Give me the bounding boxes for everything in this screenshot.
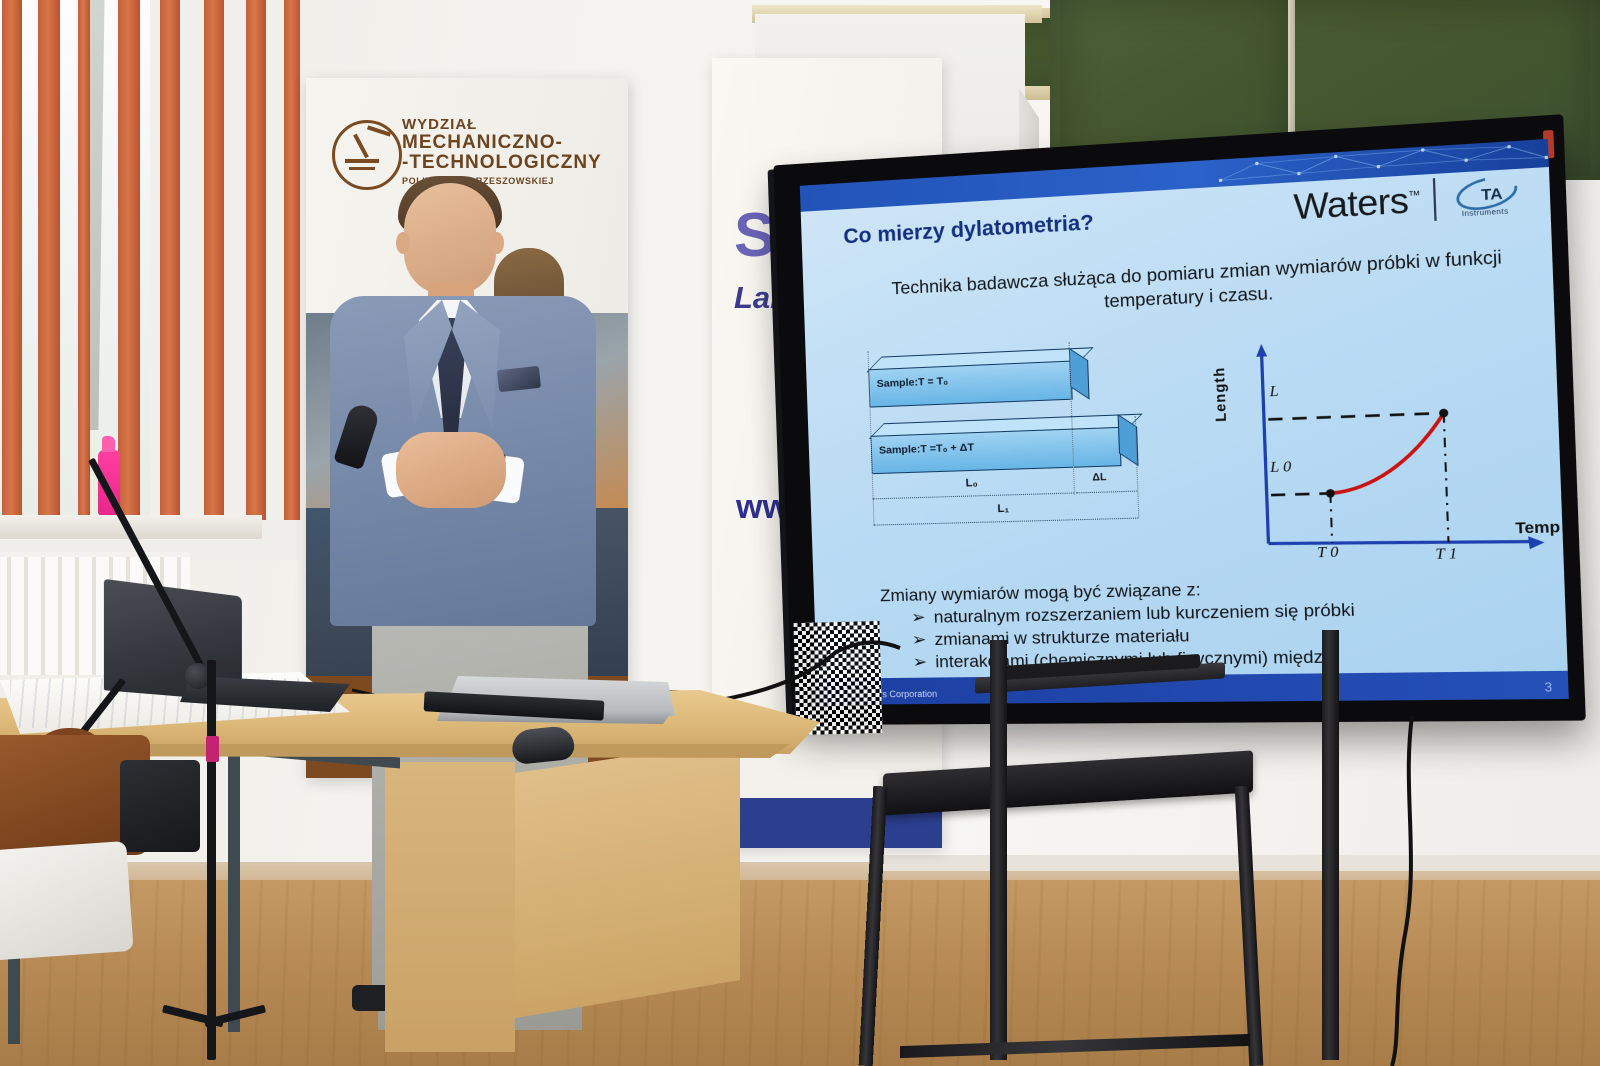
mic-pole-marker xyxy=(206,736,219,762)
logo-divider xyxy=(1433,178,1437,221)
presenter-hands xyxy=(396,432,506,508)
dim-L1-line xyxy=(874,518,1139,526)
presenter-ear-left xyxy=(396,232,410,254)
bullet-text-2: zmianami w strukturze materiału xyxy=(934,625,1190,651)
floor-grain xyxy=(0,880,1600,1066)
wall-display[interactable]: Co mierzy dylatometria? Waters™ TA Instr… xyxy=(773,114,1585,725)
presentation-room-photo: WYDZIAŁ MECHANICZNO- -TECHNOLOGICZNY POL… xyxy=(0,0,1600,1066)
brand-logo-group: Waters™ TA Instruments xyxy=(1293,173,1521,229)
dim-dL-label: ΔL xyxy=(1092,472,1106,484)
banner-line-3: -TECHNOLOGICZNY xyxy=(402,153,612,173)
waters-wordmark: Waters™ xyxy=(1293,180,1421,229)
length-vs-temp-chart: Length xyxy=(1211,325,1554,572)
slide-canvas[interactable]: Co mierzy dylatometria? Waters™ TA Instr… xyxy=(800,139,1569,705)
cart-column-left xyxy=(990,640,1007,1060)
chart-x-axis-label: Temp xyxy=(1515,518,1560,537)
chevron-right-icon: ➢ xyxy=(911,607,926,630)
dark-bag xyxy=(120,760,200,852)
chevron-right-icon: ➢ xyxy=(912,651,927,674)
chart-xtick-T1: T 1 xyxy=(1435,546,1458,565)
qr-code xyxy=(794,621,883,735)
banner-line-2: MECHANICZNO- xyxy=(402,133,612,153)
white-bag xyxy=(0,841,134,961)
chart-y-axis-label: Length xyxy=(1210,366,1229,422)
waters-text: Waters xyxy=(1293,180,1409,227)
svg-text:TA: TA xyxy=(1481,185,1503,204)
desk-leg-mid xyxy=(228,752,240,1032)
presenter-pocket-square xyxy=(497,366,541,392)
slide-body-text: Technika badawcza służąca do pomiaru zmi… xyxy=(869,244,1528,325)
dim-dL-line xyxy=(1076,491,1137,494)
banner-line-1: WYDZIAŁ xyxy=(402,116,612,133)
dim-L0-label: L₀ xyxy=(965,477,977,490)
trademark-icon: ™ xyxy=(1408,189,1420,202)
vertical-blinds-right[interactable] xyxy=(150,0,300,520)
ta-instruments-sub: Instruments xyxy=(1462,208,1509,218)
chart-ytick-L: L xyxy=(1269,383,1279,401)
chart-ytick-L0: L 0 xyxy=(1270,459,1292,478)
mic-pole xyxy=(207,660,216,1060)
chart-xtick-T0: T 0 xyxy=(1317,544,1339,562)
ta-instruments-logo: TA Instruments xyxy=(1449,175,1521,219)
slide-number: 3 xyxy=(1544,680,1552,695)
dim-L1-label: L₁ xyxy=(997,503,1009,516)
presenter-ear-right xyxy=(490,232,504,254)
chevron-right-icon: ➢ xyxy=(912,629,927,652)
desk-cabinet-side xyxy=(385,762,515,1052)
presenter-head xyxy=(404,183,496,295)
chart-svg xyxy=(1211,325,1554,572)
slide-title: Co mierzy dylatometria? xyxy=(843,211,1094,250)
cart-column-right xyxy=(1322,630,1339,1060)
dilatometry-diagram: Sample:T = T₀ Sample:T =T₀ + ΔT L₀ ΔL L₁ xyxy=(868,320,1567,583)
dim-L0-line xyxy=(873,492,1074,499)
robot-arm-icon xyxy=(332,120,402,190)
